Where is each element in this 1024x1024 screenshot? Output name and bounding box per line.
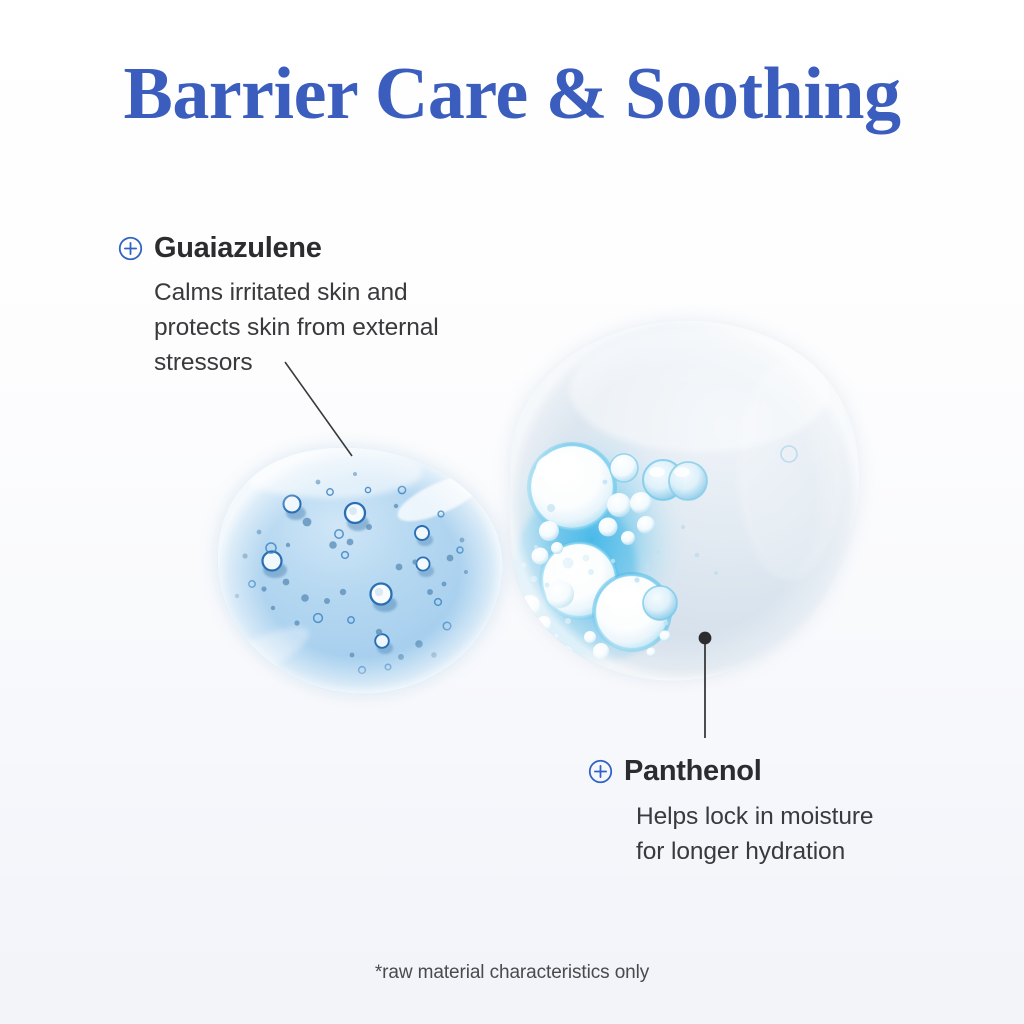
- ingredient-name-guaiazulene: Guaiazulene: [154, 234, 322, 263]
- footnote-disclaimer: *raw material characteristics only: [0, 962, 1024, 984]
- ingredient-description-guaiazulene: Calms irritated skin and protects skin f…: [154, 276, 439, 380]
- page-title: Barrier Care & Soothing: [0, 57, 1024, 131]
- callout-guaiazulene: Guaiazulene Calms irritated skin and pro…: [118, 234, 439, 380]
- desc-line: stressors: [154, 346, 439, 381]
- desc-line: for longer hydration: [636, 835, 873, 870]
- callout-guaiazulene-header: Guaiazulene: [118, 234, 439, 263]
- desc-line: Calms irritated skin and: [154, 276, 439, 311]
- plus-circle-icon: [588, 759, 613, 784]
- ingredient-description-panthenol: Helps lock in moisture for longer hydrat…: [636, 800, 873, 870]
- left-droplet-group: [204, 446, 502, 694]
- desc-line: Helps lock in moisture: [636, 800, 873, 835]
- panthenol-leader-dot: [699, 632, 712, 645]
- ring-bubbles: [263, 496, 435, 655]
- plus-circle-icon: [118, 236, 143, 261]
- right-droplet-group: [495, 321, 860, 702]
- medium-bubble-cluster: [516, 454, 683, 681]
- leader-lines: [0, 0, 1024, 1024]
- desc-line: protects skin from external: [154, 311, 439, 346]
- micro-bubbles: [522, 480, 669, 681]
- open-ring-bubbles: [249, 486, 463, 673]
- infographic-canvas: Barrier Care & Soothing Guaiazulene Calm…: [0, 0, 1024, 1024]
- ingredient-texture-artwork: [0, 0, 1024, 1024]
- callout-panthenol: Panthenol Helps lock in moisture for lon…: [588, 757, 873, 870]
- callout-panthenol-header: Panthenol: [588, 757, 873, 786]
- right-field-microbubbles: [669, 446, 797, 575]
- large-bubble-cluster: [527, 442, 672, 652]
- ingredient-name-panthenol: Panthenol: [624, 757, 761, 786]
- micro-dots: [235, 472, 468, 660]
